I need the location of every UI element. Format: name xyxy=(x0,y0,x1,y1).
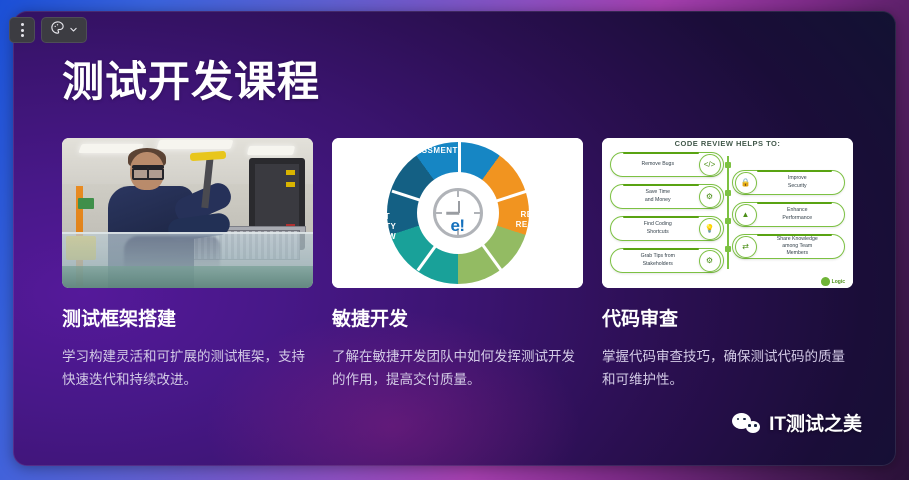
palette-icon xyxy=(50,20,65,40)
card-title: 代码审查 xyxy=(602,308,853,332)
course-card[interactable]: CODE REVIEW HELPS TO: Remove Bugs < xyxy=(602,138,853,391)
code-icon: </> xyxy=(699,154,721,176)
watermark: IT测试之美 xyxy=(732,409,862,436)
course-card[interactable]: e! ASSESSMENT TESTING PLANNING RELEASE R… xyxy=(332,138,583,391)
card-title: 测试框架搭建 xyxy=(62,308,313,332)
infographic-item: Remove Bugs </> xyxy=(610,152,724,177)
gear-icon: ⚙ xyxy=(699,250,721,272)
infographic-item: 🔒 Improve Security xyxy=(732,170,846,195)
wheel-label-assessment: ASSESSMENT xyxy=(388,146,468,156)
slide-title: 测试开发课程 xyxy=(62,59,320,105)
infographic-item: Save Time and Money ⚙ xyxy=(610,184,724,209)
wheel-center-logo: e! xyxy=(436,217,480,234)
infographic-item: Grab Tips from Stakeholders ⚙ xyxy=(610,248,724,273)
lock-icon: 🔒 xyxy=(735,172,757,194)
watermark-text: IT测试之美 xyxy=(769,409,862,436)
infographic-title: CODE REVIEW HELPS TO: xyxy=(610,139,845,148)
card-image-lab-photo xyxy=(62,138,313,288)
card-description: 学习构建灵活和可扩展的测试框架，支持快速迭代和持续改进。 xyxy=(62,345,313,391)
infographic-item: Find Coding Shortcuts 💡 xyxy=(610,216,724,241)
infographic-item: ▲ Enhance Performance xyxy=(732,202,846,227)
agile-wheel-diagram: e! ASSESSMENT TESTING PLANNING RELEASE R… xyxy=(332,138,583,288)
card-image-agile-wheel: e! ASSESSMENT TESTING PLANNING RELEASE R… xyxy=(332,138,583,288)
infographic-spine xyxy=(727,156,729,269)
wechat-icon xyxy=(732,413,760,433)
slide-canvas[interactable]: 测试开发课程 xyxy=(13,11,896,466)
wheel-hub: e! xyxy=(417,172,499,254)
wheel-label-test-agility-review: TEST AGILITY REVIEW xyxy=(346,212,412,241)
rocket-icon: ▲ xyxy=(735,204,757,226)
code-review-infographic: CODE REVIEW HELPS TO: Remove Bugs < xyxy=(602,138,853,288)
wheel-label-testing-planning: TESTING PLANNING xyxy=(491,144,565,164)
chevron-down-icon xyxy=(69,21,78,39)
clock-icon: e! xyxy=(433,188,483,238)
card-description: 掌握代码审查技巧，确保测试代码的质量和可维护性。 xyxy=(602,345,853,391)
bug-icon: ⚙ xyxy=(699,186,721,208)
kebab-menu-icon xyxy=(21,23,24,37)
wheel-label-release-readiness: RELEASE READINESS xyxy=(505,210,577,230)
logo-mark-icon xyxy=(821,277,830,286)
logo-text: Logic xyxy=(832,279,845,285)
course-card-list: 测试框架搭建 学习构建灵活和可扩展的测试框架，支持快速迭代和持续改进。 xyxy=(62,138,852,391)
infographic-item: ⇄ Share Knowledge among Team Members xyxy=(732,234,846,259)
card-image-code-review: CODE REVIEW HELPS TO: Remove Bugs < xyxy=(602,138,853,288)
app-root: 测试开发课程 xyxy=(0,0,909,480)
course-card[interactable]: 测试框架搭建 学习构建灵活和可扩展的测试框架，支持快速迭代和持续改进。 xyxy=(62,138,313,391)
floating-toolbar xyxy=(9,17,87,43)
lab-photo-illustration xyxy=(62,138,313,288)
card-title: 敏捷开发 xyxy=(332,308,583,332)
bulb-icon: 💡 xyxy=(699,218,721,240)
infographic-right-column: 🔒 Improve Security ▲ Enhance Performance xyxy=(732,152,846,273)
card-description: 了解在敏捷开发团队中如何发挥测试开发的作用，提高交付质量。 xyxy=(332,345,583,391)
overflow-menu-button[interactable] xyxy=(9,17,35,43)
theme-picker-button[interactable] xyxy=(41,17,87,43)
infographic-left-column: Remove Bugs </> Save Time and Money ⚙ xyxy=(610,152,724,273)
infographic-logo: Logic xyxy=(821,277,845,286)
share-icon: ⇄ xyxy=(735,236,757,258)
